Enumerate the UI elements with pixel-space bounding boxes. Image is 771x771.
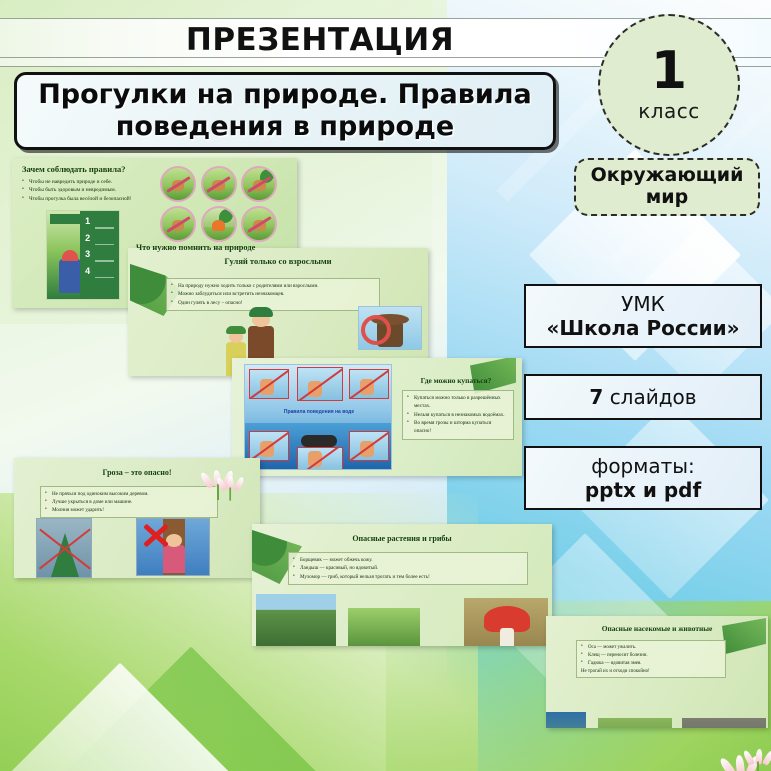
list-item: Клещ — переносит болезни. [581,652,721,660]
list-item: На природу нужно ходить только с родител… [171,282,375,290]
slide-b-title: Гуляй только со взрослыми [128,256,428,266]
page-title: Прогулки на природе. Правила поведения в… [27,79,543,143]
list-item: Нельзя купаться в незнакомых водоёмах. [407,411,509,419]
presentation-kicker: ПРЕЗЕНТАЦИЯ [0,22,640,58]
list-item: Во время грозы и шторма купаться опасно! [407,419,509,436]
no-catch-butterfly-icon [241,206,277,242]
stranger-warning-photo [358,306,422,350]
poster-rule-number: 2 [85,234,117,243]
slide-c-title: Где можно купаться? [404,376,508,385]
slide-thumbnail[interactable]: Опасные растения и грибы Борщевик — може… [252,524,552,646]
list-item: Ландыш — красивый, но ядовитый. [293,564,523,572]
info-formats-text: форматы:pptx и pdf [585,454,701,502]
swimmer-figure [301,435,337,447]
subject-badge: Окружающий мир [574,158,760,216]
list-item: Гадюка — ядовитая змея. [581,660,721,668]
list-item: Лучше укрыться в доме или машине. [45,498,213,506]
slide-c-textbox: Купаться можно только в разрешённых мест… [402,390,514,440]
slide-d-title: Гроза – это опасно! [14,468,260,477]
slide-f-textbox: Оса — может ужалить. Клещ — переносит бо… [576,640,726,678]
list-item: Оса — может ужалить. [581,644,721,652]
hogweed-photo [256,594,336,646]
list-item: Мухомор — гриб, который нельзя трогать и… [293,573,523,581]
info-slides-text: 7 слайдов [589,385,696,409]
poster-rule-number: 1 [85,217,117,226]
slide-e-title: Опасные растения и грибы [252,534,552,543]
no-touch-hedgehog-icon [201,166,237,202]
slide-thumbnail[interactable]: Гуляй только со взрослыми На природу нуж… [128,248,428,376]
grade-number: 1 [651,47,687,96]
presentation-title-box: Прогулки на природе. Правила поведения в… [14,72,556,150]
poster-illustration [47,211,80,299]
list-item: Молния может ударить! [45,506,213,514]
tree-lightning-photo [36,518,92,578]
no-litter-icon [241,166,277,202]
rule-icon-grid [160,166,278,242]
info-umk-text: УМК«Школа России» [546,292,739,340]
slide-thumbnail[interactable]: Правила поведения на воде Где можно купа… [232,358,522,476]
list-item: Можно заблудиться или встретить незнаком… [171,290,375,298]
list-item: Один гулять в лесу – опасно! [171,299,375,307]
info-box-slide-count: 7 слайдов [524,374,762,420]
fly-agaric-photo [464,598,548,646]
poster-rule-number: 4 [85,267,117,276]
slide-a-bullets: Чтобы не навредить природе и себе. Чтобы… [22,178,172,203]
grade-badge: 1 класс [598,14,740,156]
slide-d-textbox: Не прячься под одиноким высоким деревом.… [40,486,218,518]
girl-under-tree-photo [136,518,210,576]
lily-of-the-valley-photo [348,608,420,646]
no-pick-mushroom-icon [160,166,196,202]
list-item: Чтобы не навредить природе и себе. [22,178,172,186]
no-fire-grass-icon [160,206,196,242]
list-item: Борщевик — может обжечь кожу. [293,556,523,564]
viper-photo [682,718,766,728]
slide-e-bullets: Борщевик — может обжечь кожу. Ландыш — к… [293,556,523,581]
slide-f-bullets: Оса — может ужалить. Клещ — переносит бо… [581,644,721,668]
slide-c-bullets: Купаться можно только в разрешённых мест… [407,394,509,436]
poster-rules-list: 1 2 3 4 [80,211,119,299]
slide-b-bullets: На природу нужно ходить только с родител… [171,282,375,307]
slide-thumbnail[interactable]: Гроза – это опасно! Не прячься под одино… [14,458,260,578]
water-safety-poster: Правила поведения на воде [244,364,392,470]
no-campfire-icon [201,206,237,242]
slide-f-note: Не трогай их и отходи спокойно! [581,669,721,674]
info-box-formats: форматы:pptx и pdf [524,446,762,510]
slide-b-caption: Что нужно помнить на природе [136,243,255,252]
list-item: Чтобы прогулка была весёлой и безопасной… [22,195,172,203]
grade-label: класс [638,99,700,123]
wasp-photo [546,712,586,728]
tick-photo [598,718,672,728]
list-item: Купаться можно только в разрешённых мест… [407,394,509,411]
poster-rule-number: 3 [85,250,117,259]
list-item: Не прячься под одиноким высоким деревом. [45,490,213,498]
slide-b-textbox: На природу нужно ходить только с родител… [166,278,380,311]
forest-safety-poster: 1 2 3 4 [46,210,120,300]
poster-caption: Правила поведения на воде [273,407,365,419]
slide-thumbnail[interactable]: Опасные насекомые и животные Оса — может… [546,616,768,728]
slide-e-textbox: Борщевик — может обжечь кожу. Ландыш — к… [288,552,528,585]
slide-d-bullets: Не прячься под одиноким высоким деревом.… [45,490,213,514]
subject-label: Окружающий мир [576,165,758,209]
list-item: Чтобы быть здоровым и невредимым. [22,186,172,194]
info-box-umk: УМК«Школа России» [524,284,762,348]
